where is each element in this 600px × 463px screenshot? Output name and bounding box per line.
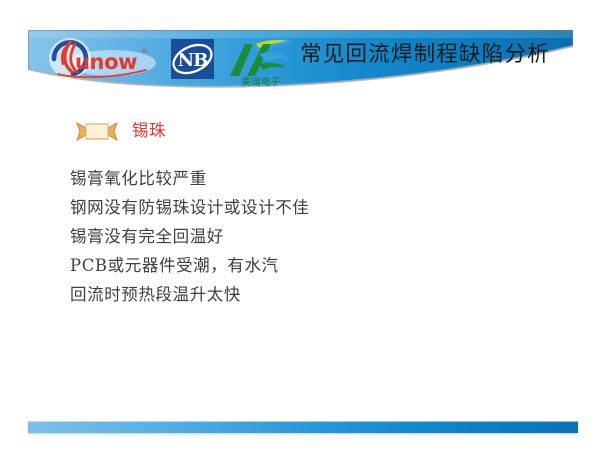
bullet-heading: 锡珠 [76,118,166,144]
footer-accent-bar [28,421,578,433]
slide-canvas: unow ® NB [0,0,600,463]
body-line: 锡膏没有完全回温好 [70,222,540,251]
body-line: PCB或元器件受潮，有水汽 [70,251,540,280]
body-line: 锡膏氧化比较严重 [70,164,540,193]
ribbon-banner-icon [76,119,118,143]
header-banner [28,30,573,92]
bullet-heading-label: 锡珠 [132,119,166,143]
body-line-list: 锡膏氧化比较严重 钢网没有防锡珠设计或设计不佳 锡膏没有完全回温好 PCB或元器… [70,164,540,309]
body-line: 回流时预热段温升太快 [70,280,540,309]
body-line: 钢网没有防锡珠设计或设计不佳 [70,193,540,222]
